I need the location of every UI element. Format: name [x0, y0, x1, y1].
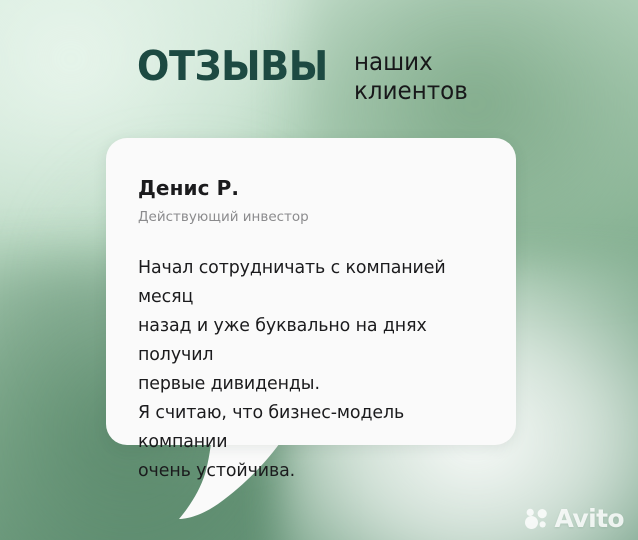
page-title-secondary-line1: наших: [354, 47, 468, 76]
review-body-text: Начал сотрудничать с компанией месяц наз…: [138, 254, 482, 486]
page-title-primary: ОТЗЫВЫ: [137, 44, 328, 88]
review-card: Денис Р. Действующий инвестор Начал сотр…: [106, 138, 516, 445]
avito-watermark: Avito: [524, 506, 624, 531]
avito-dots-icon: [524, 508, 550, 530]
avito-brand-text: Avito: [555, 506, 624, 531]
page-title-secondary: наших клиентов: [354, 47, 468, 105]
review-speech-bubble: Денис Р. Действующий инвестор Начал сотр…: [106, 138, 516, 445]
reviewer-role: Действующий инвестор: [138, 209, 482, 226]
page-title-secondary-line2: клиентов: [354, 76, 468, 105]
promo-image-canvas: ОТЗЫВЫ наших клиентов Денис Р. Действующ…: [0, 0, 638, 540]
page-title: ОТЗЫВЫ наших клиентов: [137, 44, 478, 105]
reviewer-name: Денис Р.: [138, 176, 482, 200]
